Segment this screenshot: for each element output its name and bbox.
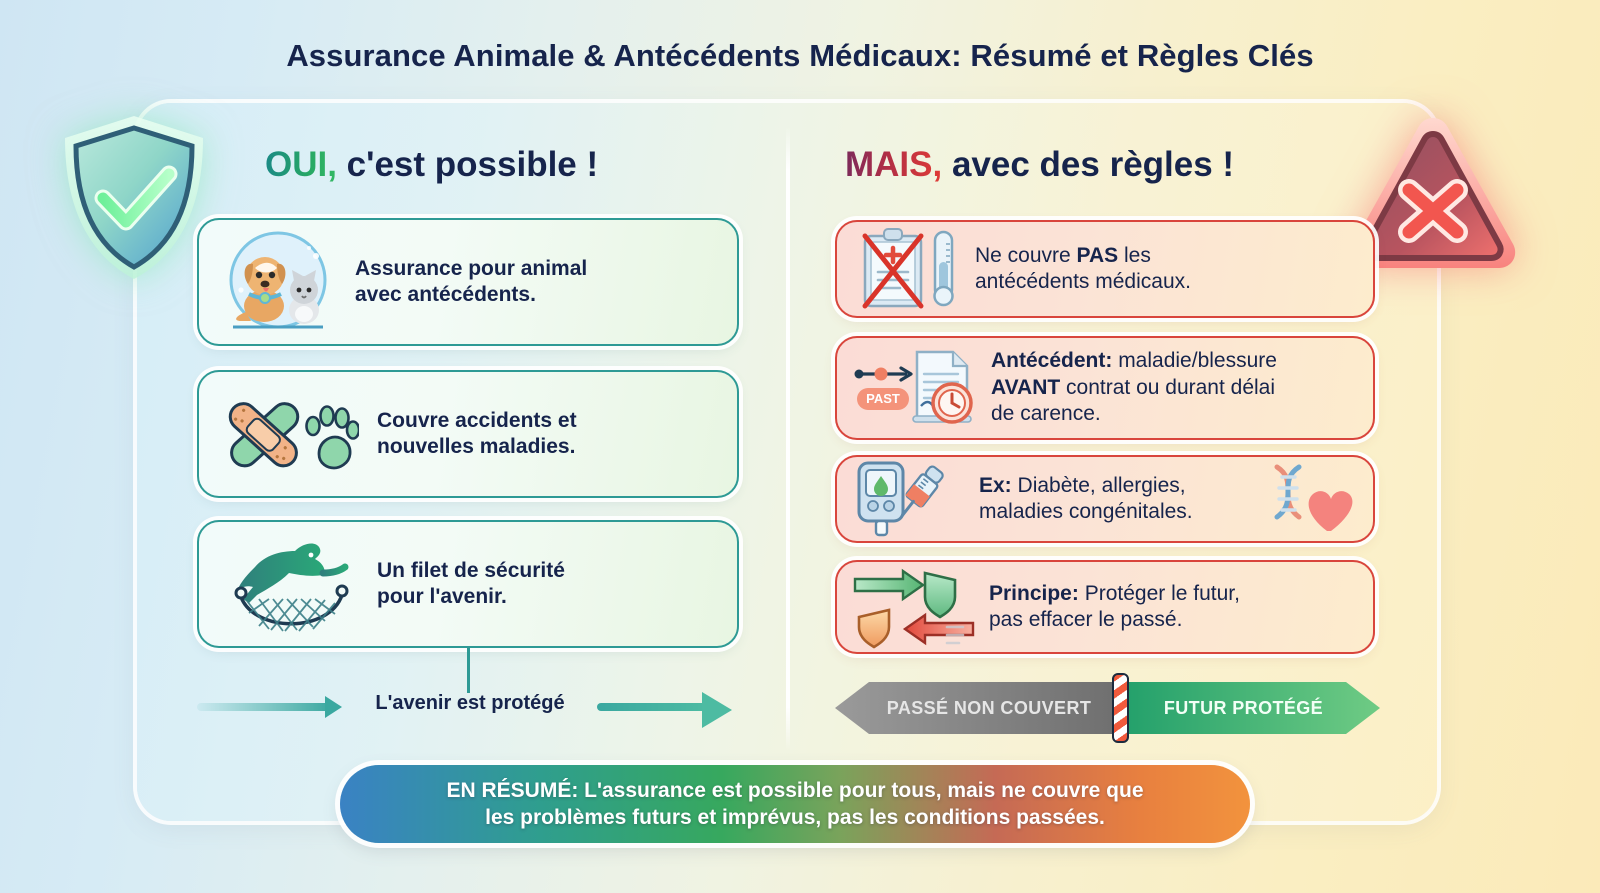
right-arrow-head-icon	[702, 692, 732, 728]
list-item[interactable]: Ex: Diabète, allergies, maladies congéni…	[835, 455, 1375, 543]
summary-banner: EN RÉSUMÉ: L'assurance est possible pour…	[340, 765, 1250, 843]
card-line-1: Ex: Diabète, allergies,	[979, 473, 1193, 499]
past-not-covered-arrow: PASSÉ NON COUVERT	[835, 682, 1125, 734]
list-item-text: Principe: Protéger le futur, pas effacer…	[989, 581, 1240, 634]
list-item-text: Ne couvre PAS les antécédents médicaux.	[975, 243, 1191, 296]
dog-cat-bubble-icon	[219, 228, 337, 336]
card-line-1: Couvre accidents et	[377, 408, 577, 434]
right-heading-rest: avec des règles !	[942, 145, 1234, 184]
left-heading-accent: OUI,	[265, 145, 337, 184]
infographic-canvas: Assurance Animale & Antécédents Médicaux…	[0, 0, 1600, 893]
summary-text: EN RÉSUMÉ: L'assurance est possible pour…	[414, 777, 1175, 832]
past-future-timeline: PASSÉ NON COUVERT FUTUR PROTÉGÉ	[835, 682, 1380, 734]
past-timeline-document-clock-icon: PAST	[851, 344, 979, 432]
card-line-1: Ne couvre PAS les	[975, 243, 1191, 269]
card-line-2: AVANT contrat ou durant délai	[991, 375, 1277, 401]
list-item-text: Ex: Diabète, allergies, maladies congéni…	[979, 473, 1193, 526]
left-heading-rest: c'est possible !	[337, 145, 598, 184]
future-protected-arrow: FUTUR PROTÉGÉ	[1123, 682, 1380, 734]
right-heading-accent: MAIS,	[845, 145, 942, 184]
glucometer-syringe-icon	[851, 459, 967, 539]
card-line-2: pour l'avenir.	[377, 584, 565, 610]
future-protected-row: L'avenir est protégé	[197, 690, 742, 726]
future-protected-label: FUTUR PROTÉGÉ	[1164, 698, 1323, 719]
dna-heart-icon	[1255, 461, 1359, 537]
right-column-heading: MAIS, avec des règles !	[845, 145, 1234, 185]
card-line-1: Principe: Protéger le futur,	[989, 581, 1240, 607]
card-line-2: maladies congénitales.	[979, 499, 1193, 525]
page-title: Assurance Animale & Antécédents Médicaux…	[0, 38, 1600, 74]
list-item[interactable]: Ne couvre PAS les antécédents médicaux.	[835, 220, 1375, 318]
right-arrow-shaft-icon	[597, 703, 707, 711]
list-item-text: Un filet de sécurité pour l'avenir.	[377, 558, 565, 611]
past-not-covered-label: PASSÉ NON COUVERT	[887, 698, 1092, 719]
svg-text:PAST: PAST	[866, 391, 900, 406]
dog-safety-net-icon	[219, 529, 359, 639]
list-item[interactable]: Assurance pour animal avec antécédents.	[197, 218, 739, 346]
shield-check-icon	[57, 112, 212, 284]
bandage-paw-icon	[219, 384, 359, 484]
list-item[interactable]: Un filet de sécurité pour l'avenir.	[197, 520, 739, 648]
future-protected-label: L'avenir est protégé	[335, 692, 605, 715]
card-line-2: pas effacer le passé.	[989, 607, 1240, 633]
shields-arrows-icon	[851, 565, 977, 649]
summary-line-2: les problèmes futurs et imprévus, pas le…	[446, 804, 1143, 831]
card-line-1: Antécédent: maladie/blessure	[991, 348, 1277, 374]
list-item-text: Assurance pour animal avec antécédents.	[355, 256, 587, 309]
card-line-3: de carence.	[991, 401, 1277, 427]
barrier-pole-icon	[1112, 673, 1129, 743]
card-line-1: Un filet de sécurité	[377, 558, 565, 584]
list-item-text: Couvre accidents et nouvelles maladies.	[377, 408, 577, 461]
left-arrow-shaft-icon	[197, 703, 332, 711]
connector-line	[467, 648, 470, 693]
card-line-2: antécédents médicaux.	[975, 269, 1191, 295]
left-column-heading: OUI, c'est possible !	[265, 145, 598, 185]
card-line-2: nouvelles maladies.	[377, 434, 577, 460]
list-item-text: Antécédent: maladie/blessure AVANT contr…	[991, 348, 1277, 427]
summary-line-1: EN RÉSUMÉ: L'assurance est possible pour…	[446, 777, 1143, 804]
card-line-2: avec antécédents.	[355, 282, 587, 308]
card-line-1: Assurance pour animal	[355, 256, 587, 282]
list-item[interactable]: PAST Antécédent: maladie/blessure AVANT …	[835, 336, 1375, 440]
list-item[interactable]: Principe: Protéger le futur, pas effacer…	[835, 560, 1375, 654]
clipboard-crossed-thermometer-icon	[851, 226, 963, 312]
column-divider	[786, 126, 790, 751]
list-item[interactable]: Couvre accidents et nouvelles maladies.	[197, 370, 739, 498]
